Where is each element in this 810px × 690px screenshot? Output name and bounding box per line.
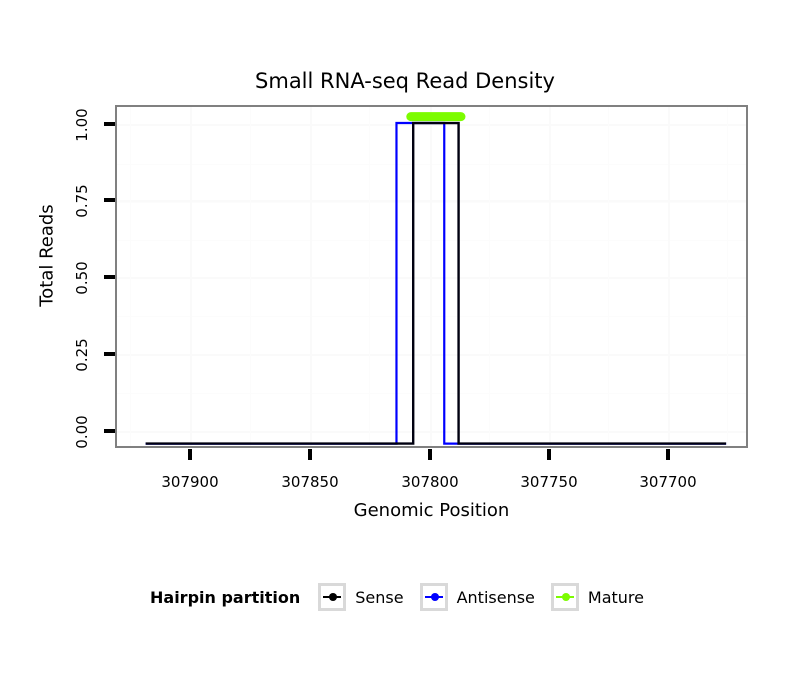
y-tick-mark <box>104 198 115 202</box>
y-tick-mark <box>104 275 115 279</box>
x-tick-label: 307700 <box>618 473 718 491</box>
y-tick-label: 0.25 <box>73 334 91 376</box>
series-line-sense <box>146 123 726 444</box>
y-tick-label: 0.50 <box>73 257 91 299</box>
line-dot-key-icon-dot <box>431 593 439 601</box>
legend-key-mature <box>551 583 579 611</box>
legend-item-sense[interactable]: Sense <box>318 583 403 611</box>
series-line-antisense <box>146 123 726 444</box>
legend-label-mature: Mature <box>588 588 644 607</box>
x-tick-mark <box>547 449 551 460</box>
x-tick-mark <box>666 449 670 460</box>
legend-label-antisense: Antisense <box>457 588 535 607</box>
chart-plot-root: Small RNA-seq Read Density Total Reads G… <box>0 0 810 690</box>
x-tick-label: 307750 <box>499 473 599 491</box>
y-tick-mark <box>104 352 115 356</box>
x-axis-title: Genomic Position <box>115 500 748 521</box>
legend-title: Hairpin partition <box>150 588 300 607</box>
legend-key-antisense <box>420 583 448 611</box>
y-tick-mark <box>104 122 115 126</box>
x-tick-label: 307900 <box>140 473 240 491</box>
line-dot-key-icon-dot <box>329 593 337 601</box>
line-dot-key-icon-dot <box>562 593 570 601</box>
y-tick-label: 0.00 <box>73 411 91 453</box>
legend-item-mature[interactable]: Mature <box>551 583 644 611</box>
chart-legend: Hairpin partition Sense Antisense Mature <box>0 583 810 611</box>
chart-title: Small RNA-seq Read Density <box>0 68 810 94</box>
series-layer <box>117 107 748 448</box>
plot-panel-inner <box>117 107 746 446</box>
y-tick-label: 1.00 <box>73 104 91 146</box>
y-tick-label: 0.75 <box>73 180 91 222</box>
legend-key-sense <box>318 583 346 611</box>
x-tick-mark <box>308 449 312 460</box>
x-tick-mark <box>428 449 432 460</box>
x-tick-mark <box>188 449 192 460</box>
legend-item-antisense[interactable]: Antisense <box>420 583 535 611</box>
y-tick-mark <box>104 429 115 433</box>
y-axis-title: Total Reads <box>37 166 58 346</box>
legend-label-sense: Sense <box>355 588 403 607</box>
plot-panel <box>115 105 748 448</box>
x-tick-label: 307850 <box>260 473 360 491</box>
x-tick-label: 307800 <box>380 473 480 491</box>
